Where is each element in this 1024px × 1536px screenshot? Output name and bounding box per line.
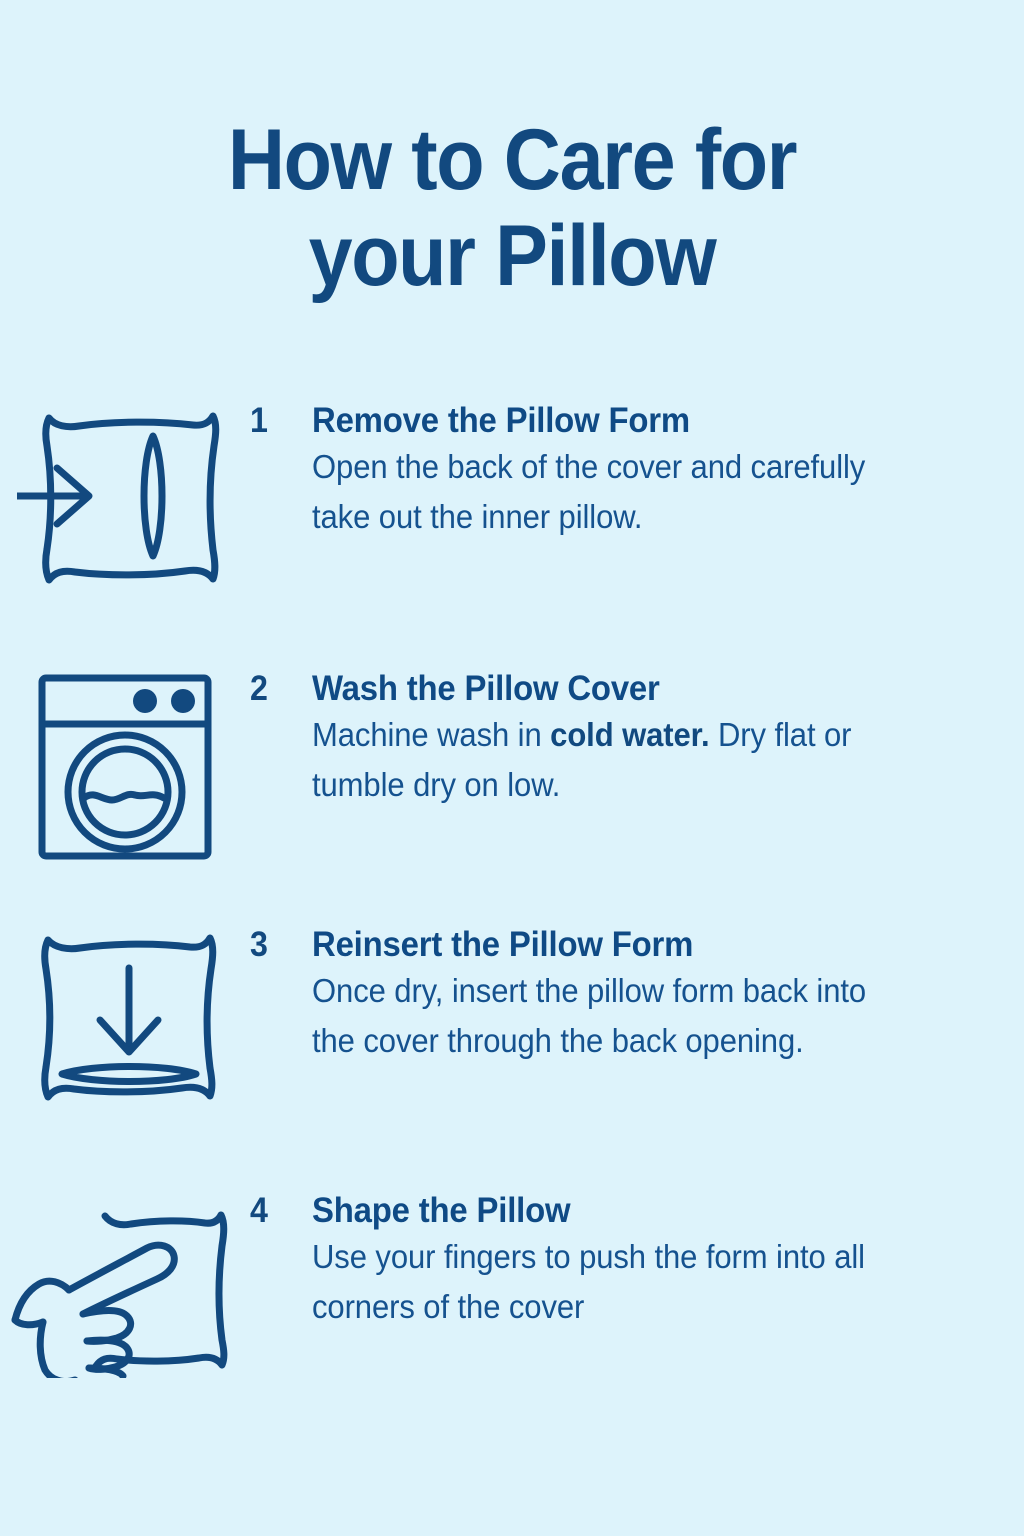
step-4-description: Use your fingers to push the form into a…: [312, 1232, 876, 1332]
step-item-1: 1 Remove the Pillow Form Open the back o…: [0, 396, 1024, 664]
pillow-with-right-arrow-icon: [17, 404, 233, 589]
hand-pressing-pillow-icon: [9, 1198, 241, 1378]
step-2-body: 2 Wash the Pillow Cover Machine wash in …: [250, 664, 1024, 810]
step-3-body: 3 Reinsert the Pillow Form Once dry, ins…: [250, 920, 1024, 1066]
step-4-desc-pre: Use your fingers to push the form into a…: [312, 1238, 865, 1325]
pillow-with-down-arrow-icon: [30, 928, 220, 1108]
step-2-desc-bold: cold water.: [550, 716, 709, 753]
step-3-description: Once dry, insert the pillow form back in…: [312, 966, 876, 1066]
step-2-headrow: 2 Wash the Pillow Cover: [250, 668, 1024, 710]
step-2-desc-pre: Machine wash in: [312, 716, 550, 753]
step-1-description: Open the back of the cover and carefully…: [312, 442, 876, 542]
step-2-description: Machine wash in cold water. Dry flat or …: [312, 710, 876, 810]
step-4-number: 4: [250, 1190, 307, 1232]
step-2-icon-wrap: [0, 664, 250, 862]
step-4-icon-wrap: [0, 1188, 250, 1378]
step-1-number: 1: [250, 400, 307, 442]
step-item-3: 3 Reinsert the Pillow Form Once dry, ins…: [0, 920, 1024, 1188]
infographic-page: How to Care for your Pillow 1: [0, 0, 1024, 1536]
step-3-number: 3: [250, 924, 307, 966]
step-4-title: Shape the Pillow: [312, 1190, 981, 1232]
step-3-headrow: 3 Reinsert the Pillow Form: [250, 924, 1024, 966]
page-title-line-1: How to Care for: [41, 112, 983, 208]
step-1-desc-pre: Open the back of the cover and carefully…: [312, 448, 865, 535]
step-2-title: Wash the Pillow Cover: [312, 668, 981, 710]
page-title: How to Care for your Pillow: [0, 112, 1024, 304]
step-3-title: Reinsert the Pillow Form: [312, 924, 981, 966]
step-2-number: 2: [250, 668, 307, 710]
step-1-headrow: 1 Remove the Pillow Form: [250, 400, 1024, 442]
step-item-2: 2 Wash the Pillow Cover Machine wash in …: [0, 664, 1024, 920]
steps-list: 1 Remove the Pillow Form Open the back o…: [0, 396, 1024, 1408]
step-1-body: 1 Remove the Pillow Form Open the back o…: [250, 396, 1024, 542]
step-4-body: 4 Shape the Pillow Use your fingers to p…: [250, 1188, 1024, 1332]
page-title-line-2: your Pillow: [41, 208, 983, 304]
washing-machine-icon: [36, 672, 214, 862]
step-1-icon-wrap: [0, 396, 250, 589]
step-1-title: Remove the Pillow Form: [312, 400, 981, 442]
step-4-headrow: 4 Shape the Pillow: [250, 1190, 1024, 1232]
step-3-icon-wrap: [0, 920, 250, 1108]
step-item-4: 4 Shape the Pillow Use your fingers to p…: [0, 1188, 1024, 1408]
step-3-desc-pre: Once dry, insert the pillow form back in…: [312, 972, 866, 1059]
